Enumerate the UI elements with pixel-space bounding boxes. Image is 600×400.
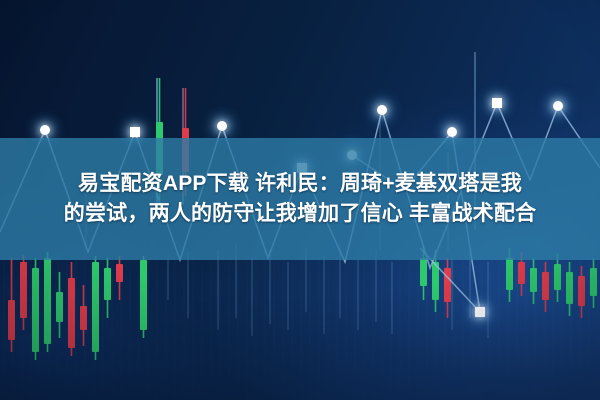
headline-band: 易宝配资APP下载 许利民：周琦+麦基双塔是我 的尝试，两人的防守让我增加了信心… xyxy=(0,138,600,260)
headline-line-1: 易宝配资APP下载 许利民：周琦+麦基双塔是我 xyxy=(78,169,522,199)
stock-news-banner: 易宝配资APP下载 许利民：周琦+麦基双塔是我 的尝试，两人的防守让我增加了信心… xyxy=(0,0,600,400)
headline-line-2: 的尝试，两人的防守让我增加了信心 丰富战术配合 xyxy=(64,199,536,229)
